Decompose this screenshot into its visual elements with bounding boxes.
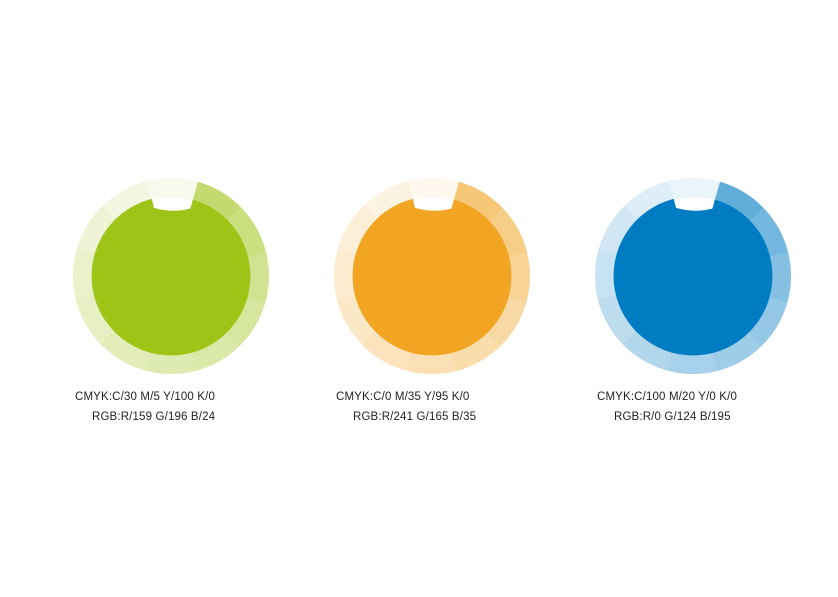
cmyk-label: CMYK:C/0 M/35 Y/95 K/0: [312, 387, 612, 407]
swatch-caption-orange: CMYK:C/0 M/35 Y/95 K/0RGB:R/241 G/165 B/…: [312, 387, 612, 427]
ring-segment: [147, 178, 198, 201]
swatch-core-disc: [614, 199, 773, 356]
swatch-core-disc: [92, 199, 251, 356]
rgb-label: RGB:R/241 G/165 B/35: [312, 407, 612, 427]
cmyk-label: CMYK:C/30 M/5 Y/100 K/0: [51, 387, 351, 407]
ring-segment: [408, 178, 459, 201]
swatch-group: CMYK:C/30 M/5 Y/100 K/0RGB:R/159 G/196 B…: [0, 0, 838, 597]
rgb-label: RGB:R/159 G/196 B/24: [51, 407, 351, 427]
ring-segment: [669, 178, 720, 201]
rgb-label: RGB:R/0 G/124 B/195: [573, 407, 838, 427]
cmyk-label: CMYK:C/100 M/20 Y/0 K/0: [573, 387, 838, 407]
swatch-ring-green: [73, 178, 269, 374]
color-swatch-orange: CMYK:C/0 M/35 Y/95 K/0RGB:R/241 G/165 B/…: [334, 178, 530, 374]
swatch-ring-orange: [334, 178, 530, 374]
swatch-caption-green: CMYK:C/30 M/5 Y/100 K/0RGB:R/159 G/196 B…: [51, 387, 351, 427]
swatch-caption-blue: CMYK:C/100 M/20 Y/0 K/0RGB:R/0 G/124 B/1…: [573, 387, 838, 427]
color-swatch-blue: CMYK:C/100 M/20 Y/0 K/0RGB:R/0 G/124 B/1…: [595, 178, 791, 374]
swatch-core-disc: [353, 199, 512, 356]
swatch-ring-blue: [595, 178, 791, 374]
color-swatch-green: CMYK:C/30 M/5 Y/100 K/0RGB:R/159 G/196 B…: [73, 178, 269, 374]
color-palette-board: CMYK:C/30 M/5 Y/100 K/0RGB:R/159 G/196 B…: [0, 0, 838, 597]
